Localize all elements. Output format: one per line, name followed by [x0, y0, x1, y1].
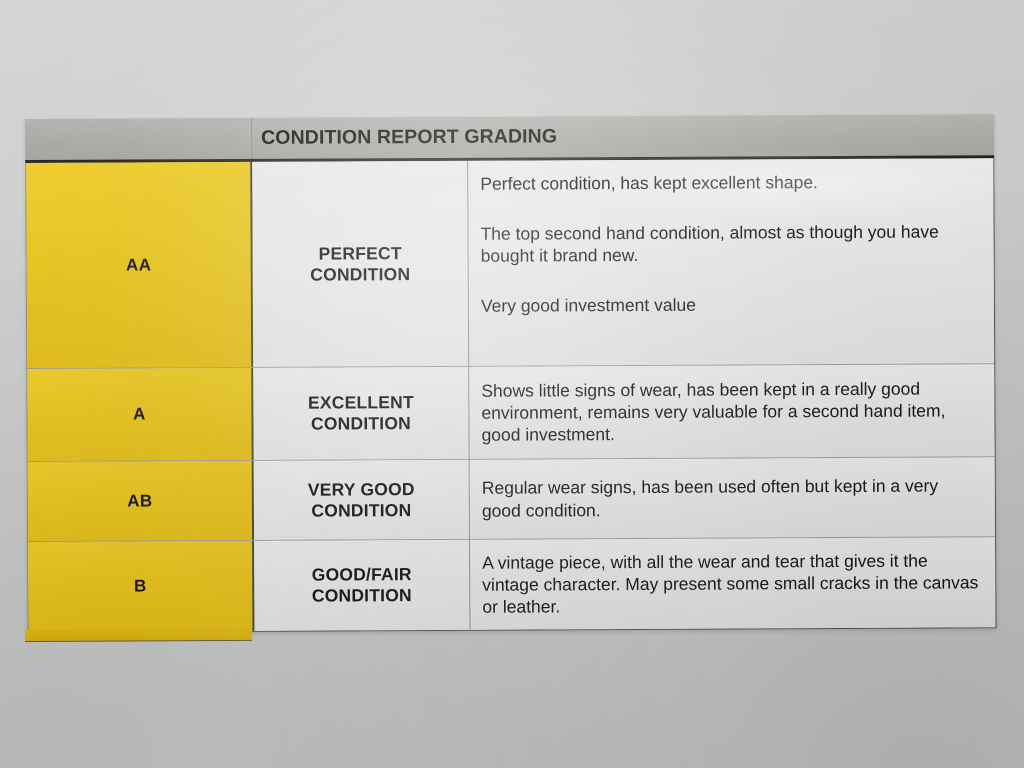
description-paragraph: A vintage piece, with all the wear and t…	[482, 549, 981, 618]
description-cell-ab: Regular wear signs, has been used often …	[470, 457, 995, 539]
condition-name-label: VERY GOOD CONDITION	[308, 479, 415, 521]
description-cell-aa: Perfect condition, has kept excellent sh…	[468, 158, 994, 366]
condition-name-line-2: CONDITION	[310, 264, 410, 284]
description-cell-a: Shows little signs of wear, has been kep…	[469, 364, 994, 459]
grade-cell-a: A	[27, 368, 253, 461]
condition-name-cell-aa: PERFECT CONDITION	[252, 161, 469, 367]
grade-cell-ab: AB	[28, 461, 254, 541]
condition-name-line-1: EXCELLENT	[308, 392, 414, 413]
description-paragraph: The top second hand condition, almost as…	[481, 220, 980, 267]
table-row: B GOOD/FAIR CONDITION A vintage piece, w…	[28, 537, 995, 632]
grade-label: AA	[126, 255, 151, 275]
condition-name-label: GOOD/FAIR CONDITION	[312, 564, 412, 606]
description-paragraph: Very good investment value	[481, 292, 980, 316]
condition-name-line-2: CONDITION	[312, 585, 412, 605]
condition-name-cell-ab: VERY GOOD CONDITION	[254, 460, 470, 540]
description-paragraph: Regular wear signs, has been used often …	[482, 475, 981, 522]
condition-name-line-2: CONDITION	[311, 500, 411, 520]
grade-cell-aa: AA	[26, 162, 253, 368]
condition-report-grading-table: CONDITION REPORT GRADING AA PERFECT COND…	[25, 114, 997, 633]
photographed-document: CONDITION REPORT GRADING AA PERFECT COND…	[0, 0, 1024, 768]
table-row: AA PERFECT CONDITION Perfect condition, …	[26, 158, 994, 369]
grade-column-bleed	[25, 629, 252, 642]
table-row: AB VERY GOOD CONDITION Regular wear sign…	[28, 457, 995, 542]
condition-name-line-1: GOOD/FAIR	[312, 564, 412, 584]
condition-name-cell-b: GOOD/FAIR CONDITION	[254, 540, 470, 631]
condition-name-line-1: VERY GOOD	[308, 479, 415, 500]
table-row: A EXCELLENT CONDITION Shows little signs…	[27, 364, 994, 462]
condition-name-label: EXCELLENT CONDITION	[308, 392, 414, 434]
table-title: CONDITION REPORT GRADING	[252, 123, 994, 150]
description-cell-b: A vintage piece, with all the wear and t…	[470, 537, 995, 630]
grade-label: AB	[127, 491, 152, 511]
condition-name-line-1: PERFECT	[319, 243, 402, 263]
grade-label: B	[134, 576, 147, 596]
condition-name-line-2: CONDITION	[311, 413, 411, 433]
description-paragraph: Shows little signs of wear, has been kep…	[481, 377, 980, 446]
grade-cell-b: B	[28, 541, 254, 632]
description-paragraph: Perfect condition, has kept excellent sh…	[480, 170, 979, 194]
condition-name-cell-a: EXCELLENT CONDITION	[253, 367, 469, 460]
table-header-bar: CONDITION REPORT GRADING	[25, 114, 994, 163]
header-grade-column-spacer	[25, 118, 252, 160]
condition-name-label: PERFECT CONDITION	[310, 243, 410, 285]
table-body: AA PERFECT CONDITION Perfect condition, …	[25, 158, 996, 633]
grade-label: A	[133, 404, 146, 424]
